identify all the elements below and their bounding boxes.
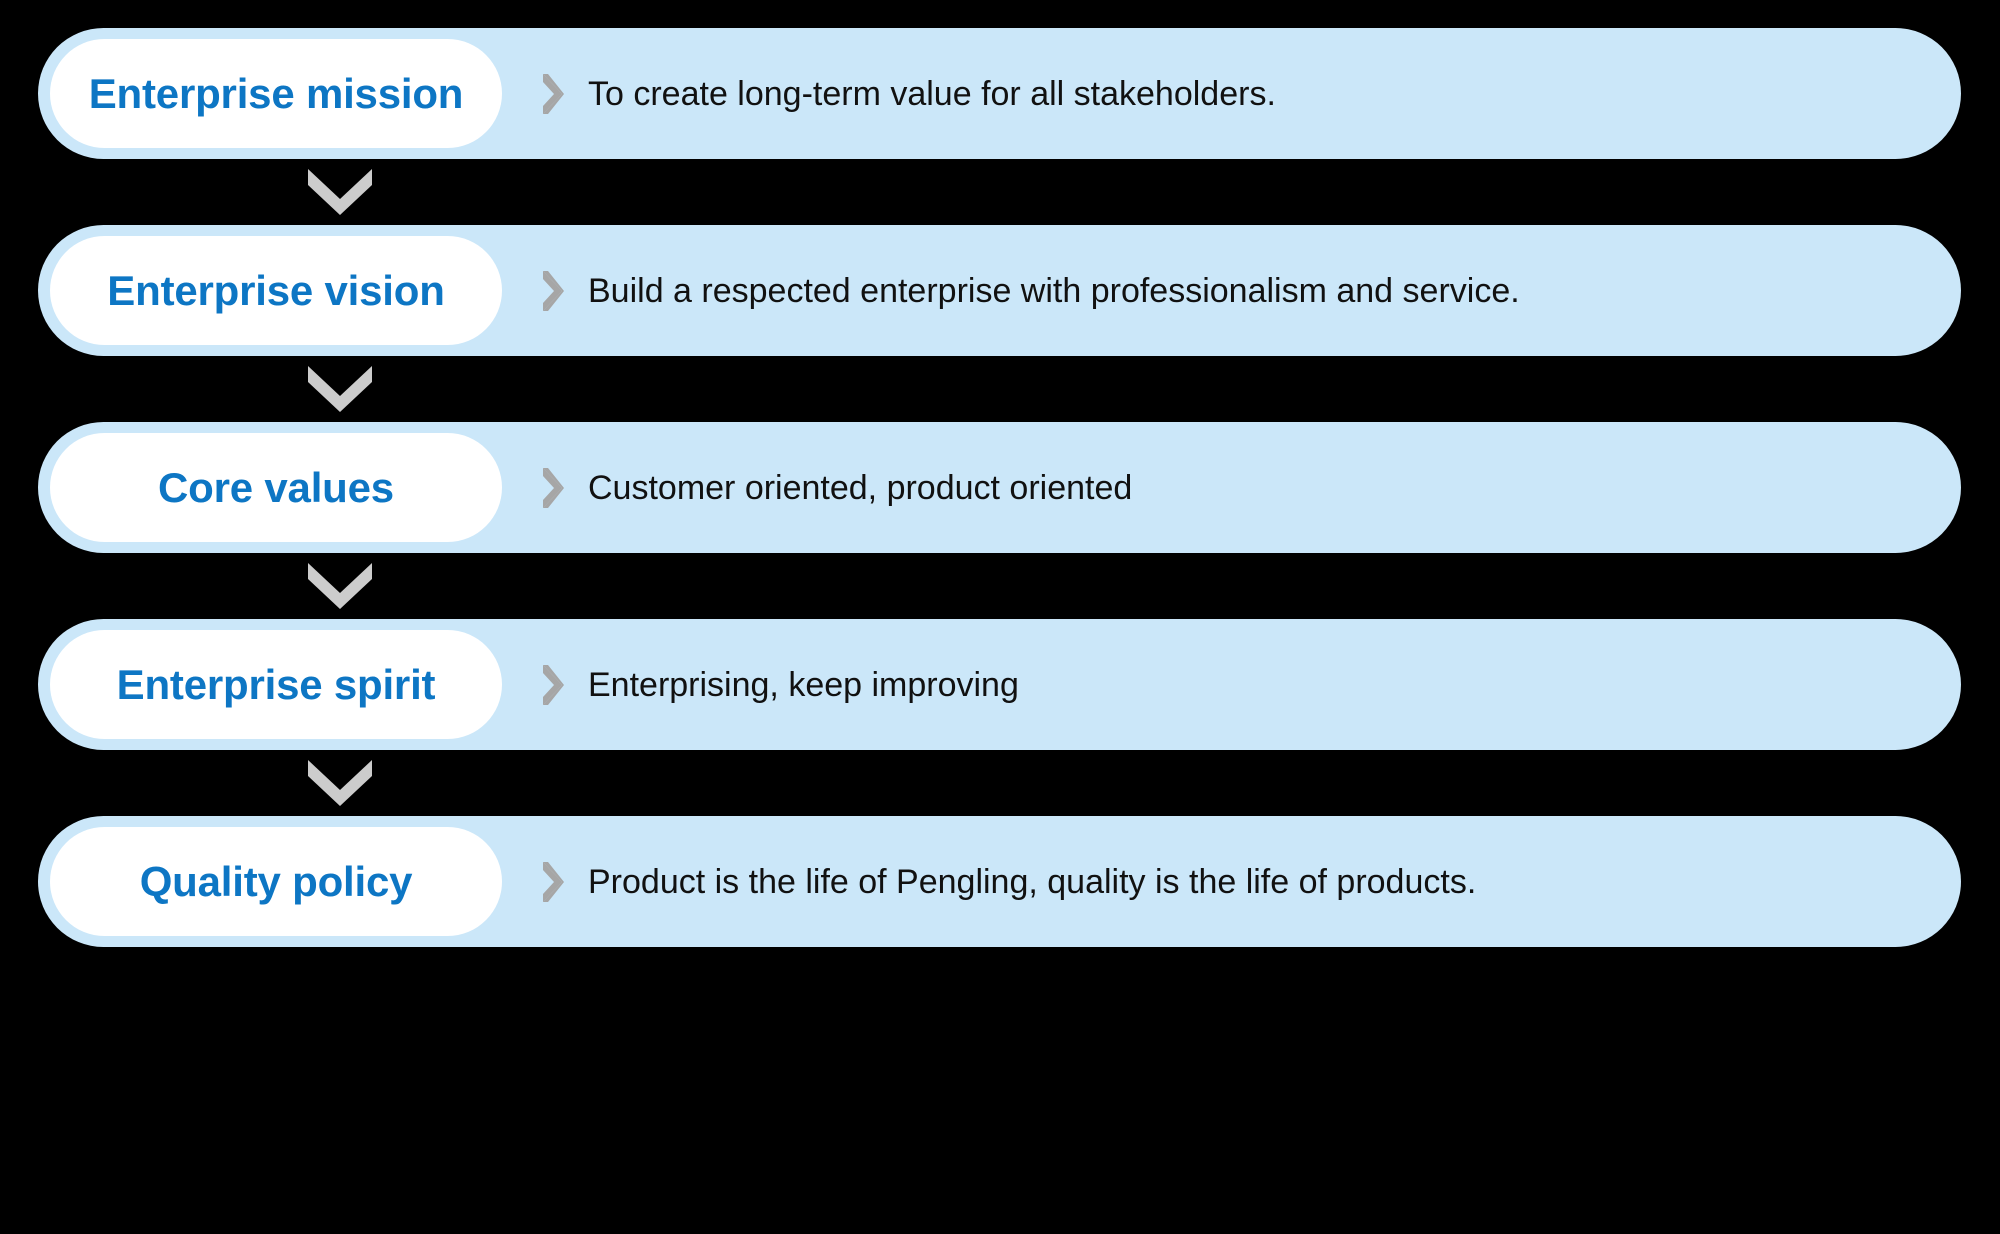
chevron-down-icon bbox=[304, 559, 376, 611]
chevron-down-icon bbox=[304, 165, 376, 217]
row-description-text: Product is the life of Pengling, quality… bbox=[588, 865, 1476, 899]
row-description-zone: Enterprising, keep improving bbox=[516, 619, 1019, 750]
row-description-text: Enterprising, keep improving bbox=[588, 668, 1019, 702]
row-band: Core valuesCustomer oriented, product or… bbox=[38, 422, 1961, 553]
row-label-pill: Quality policy bbox=[50, 827, 502, 936]
row-label-text: Enterprise mission bbox=[89, 70, 464, 118]
row-label-pill: Enterprise mission bbox=[50, 39, 502, 148]
row-band: Enterprise missionTo create long-term va… bbox=[38, 28, 1961, 159]
chevron-down-icon bbox=[304, 756, 376, 808]
chevron-right-icon bbox=[540, 860, 566, 904]
row-connector bbox=[0, 750, 2000, 816]
row-description-text: Build a respected enterprise with profes… bbox=[588, 274, 1520, 308]
row-band: Enterprise spiritEnterprising, keep impr… bbox=[38, 619, 1961, 750]
diagram-row: Enterprise spiritEnterprising, keep impr… bbox=[0, 619, 2000, 750]
diagram-row: Enterprise missionTo create long-term va… bbox=[0, 28, 2000, 159]
row-label-text: Enterprise vision bbox=[107, 267, 444, 315]
row-description-zone: Build a respected enterprise with profes… bbox=[516, 225, 1520, 356]
row-description-zone: Customer oriented, product oriented bbox=[516, 422, 1132, 553]
chevron-right-icon bbox=[540, 269, 566, 313]
row-label-text: Core values bbox=[158, 464, 394, 512]
diagram-row: Quality policyProduct is the life of Pen… bbox=[0, 816, 2000, 947]
row-connector bbox=[0, 553, 2000, 619]
row-label-text: Enterprise spirit bbox=[117, 661, 436, 709]
diagram-row: Core valuesCustomer oriented, product or… bbox=[0, 422, 2000, 553]
row-band: Enterprise visionBuild a respected enter… bbox=[38, 225, 1961, 356]
row-connector bbox=[0, 356, 2000, 422]
row-connector bbox=[0, 159, 2000, 225]
chevron-right-icon bbox=[540, 72, 566, 116]
row-description-text: To create long-term value for all stakeh… bbox=[588, 77, 1276, 111]
diagram-row: Enterprise visionBuild a respected enter… bbox=[0, 225, 2000, 356]
chevron-down-icon bbox=[304, 362, 376, 414]
row-label-pill: Enterprise vision bbox=[50, 236, 502, 345]
row-label-text: Quality policy bbox=[140, 858, 413, 906]
row-description-text: Customer oriented, product oriented bbox=[588, 471, 1132, 505]
enterprise-culture-diagram: Enterprise missionTo create long-term va… bbox=[0, 0, 2000, 1234]
row-band: Quality policyProduct is the life of Pen… bbox=[38, 816, 1961, 947]
row-label-pill: Core values bbox=[50, 433, 502, 542]
row-description-zone: To create long-term value for all stakeh… bbox=[516, 28, 1276, 159]
chevron-right-icon bbox=[540, 663, 566, 707]
row-description-zone: Product is the life of Pengling, quality… bbox=[516, 816, 1476, 947]
chevron-right-icon bbox=[540, 466, 566, 510]
row-label-pill: Enterprise spirit bbox=[50, 630, 502, 739]
